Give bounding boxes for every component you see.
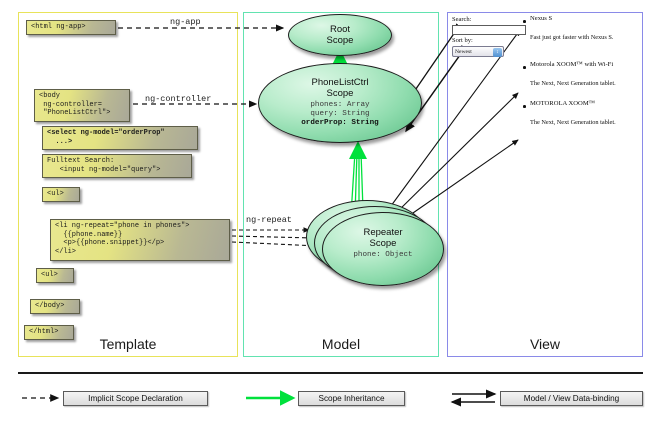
code-box-body-open: <body ng-controller= "PhoneListCtrl"> [34, 89, 130, 122]
sort-by-select[interactable]: Newest ↕ [452, 46, 504, 57]
legend-divider [18, 372, 643, 374]
panel-model-label: Model [244, 336, 438, 352]
root-scope-ellipse: Root Scope [288, 14, 392, 56]
view-sort-label: Sort by: [452, 37, 473, 44]
edge-label-ng-repeat: ng-repeat [246, 215, 292, 225]
diagram-canvas: Template Model View <html ng-app> <body … [0, 0, 661, 425]
bullet-icon [523, 105, 526, 108]
phonelistctrl-scope-title: PhoneListCtrl Scope [259, 77, 421, 99]
edge-label-ng-app: ng-app [170, 17, 201, 27]
scope-property-phones: phones: Array [259, 101, 421, 110]
code-box-li-repeat: <li ng-repeat="phone in phones"> {{phone… [50, 219, 230, 261]
repeater-scope-title: Repeater Scope [323, 227, 443, 249]
view-search-label: Search: [452, 16, 472, 23]
code-box-body-close: </body> [30, 299, 80, 314]
chevron-updown-icon: ↕ [493, 48, 502, 57]
code-box-input: Fulltext Search: <input ng-model="query"… [42, 154, 192, 178]
edge-label-ng-controller: ng-controller [145, 94, 211, 104]
root-scope-title: Root Scope [289, 24, 391, 46]
phone-name: Nexus S [530, 15, 552, 22]
legend-item-implicit-scope-declaration: Implicit Scope Declaration [63, 391, 208, 406]
phonelistctrl-scope-properties: phones: Array query: String orderProp: S… [259, 101, 421, 128]
bullet-icon [523, 66, 526, 69]
panel-view-label: View [448, 336, 642, 352]
legend-item-model-view-data-binding: Model / View Data-binding [500, 391, 643, 406]
code-box-html-close: </html> [24, 325, 74, 340]
sort-by-selected-value: Newest [455, 49, 472, 55]
repeater-scope-properties: phone: Object [323, 251, 443, 260]
code-box-select: <select ng-model="orderProp" ...> [42, 126, 198, 150]
code-box-html-open: <html ng-app> [26, 20, 116, 35]
phone-snippet: Fast just got faster with Nexus S. [530, 34, 613, 41]
legend-item-scope-inheritance: Scope Inheritance [298, 391, 405, 406]
bullet-icon [523, 20, 526, 23]
scope-property-phone: phone: Object [323, 251, 443, 260]
phone-name: Motorola XOOM™ with Wi-Fi [530, 61, 613, 68]
search-input[interactable] [452, 25, 526, 35]
code-box-ul-open: <ul> [42, 187, 80, 202]
phone-snippet: The Next, Next Generation tablet. [530, 80, 616, 87]
legend-arrow-model-view-data-binding [452, 394, 495, 402]
repeater-scope-ellipse: Repeater Scope phone: Object [322, 212, 444, 286]
scope-property-orderprop: orderProp: String [259, 119, 421, 128]
phonelistctrl-scope-ellipse: PhoneListCtrl Scope phones: Array query:… [258, 63, 422, 143]
scope-property-query: query: String [259, 110, 421, 119]
phone-snippet: The Next, Next Generation tablet. [530, 119, 616, 126]
code-box-ul-close: <ul> [36, 268, 74, 283]
phone-name: MOTOROLA XOOM™ [530, 100, 595, 107]
